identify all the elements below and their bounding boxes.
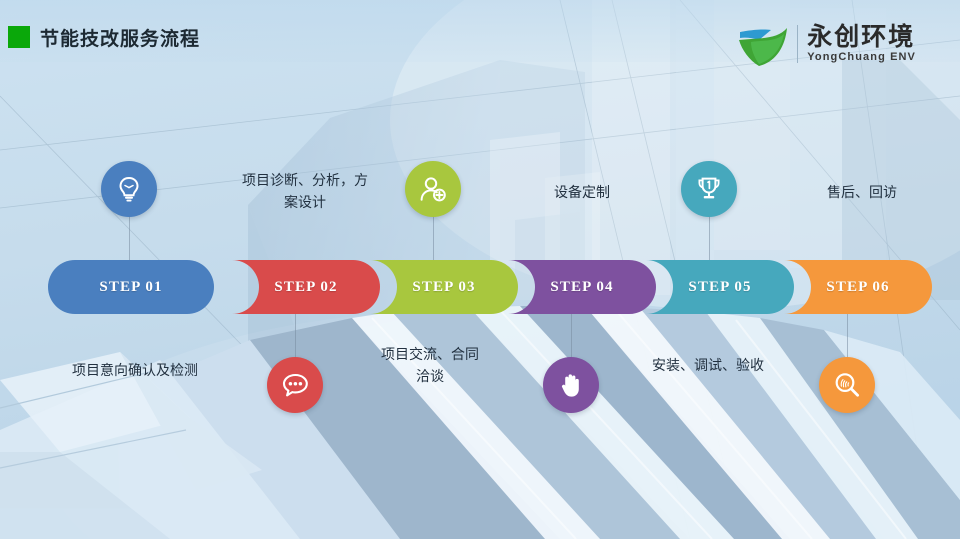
step-banner-2[interactable]: STEP 02 [232,260,380,314]
trophy-icon [694,174,724,204]
connector-stem-3 [433,216,434,264]
logo-divider [797,25,798,63]
connector-stem-5 [709,216,710,264]
connector-stem-4 [571,310,572,358]
step-banner-6[interactable]: STEP 06 [784,260,932,314]
logo-name-en: YongChuang ENV [807,51,916,64]
step-icon-bubble-5[interactable] [681,161,737,217]
step-banner-5[interactable]: STEP 05 [646,260,794,314]
logo-name-cn: 永创环境 [807,24,916,50]
step-icon-bubble-2[interactable] [267,357,323,413]
hand-icon [556,370,586,400]
step-caption-4: 设备定制 [508,182,656,204]
step-caption-3: 项目交流、合同 洽谈 [345,344,515,387]
logo-swoosh-icon [737,20,791,68]
logo-wordmark: 永创环境 YongChuang ENV [807,24,916,64]
step-caption-6: 售后、回访 [782,182,942,204]
step-icon-bubble-1[interactable] [101,161,157,217]
step-caption-5: 安装、调试、验收 [618,355,798,377]
step-icon-bubble-6[interactable] [819,357,875,413]
add-user-icon [418,174,448,204]
step-banner-3[interactable]: STEP 03 [370,260,518,314]
step-banner-4[interactable]: STEP 04 [508,260,656,314]
page-title: 节能技改服务流程 [40,24,200,51]
step-icon-bubble-4[interactable] [543,357,599,413]
connector-stem-1 [129,216,130,264]
magnifier-icon [832,370,862,400]
connector-stem-6 [847,310,848,358]
title-accent-square [8,26,30,48]
step-caption-1: 项目意向确认及检测 [30,360,240,382]
step-banner-1[interactable]: STEP 01 [48,260,214,314]
step-caption-2: 项目诊断、分析，方 案设计 [205,170,405,213]
connector-stem-2 [295,310,296,358]
step-icon-bubble-3[interactable] [405,161,461,217]
lightbulb-icon [114,174,144,204]
chat-bubble-icon [280,370,310,400]
company-logo: 永创环境 YongChuang ENV [737,18,916,70]
slide-canvas: 节能技改服务流程 永创环境 YongChuang ENV STEP 01 [0,0,960,539]
